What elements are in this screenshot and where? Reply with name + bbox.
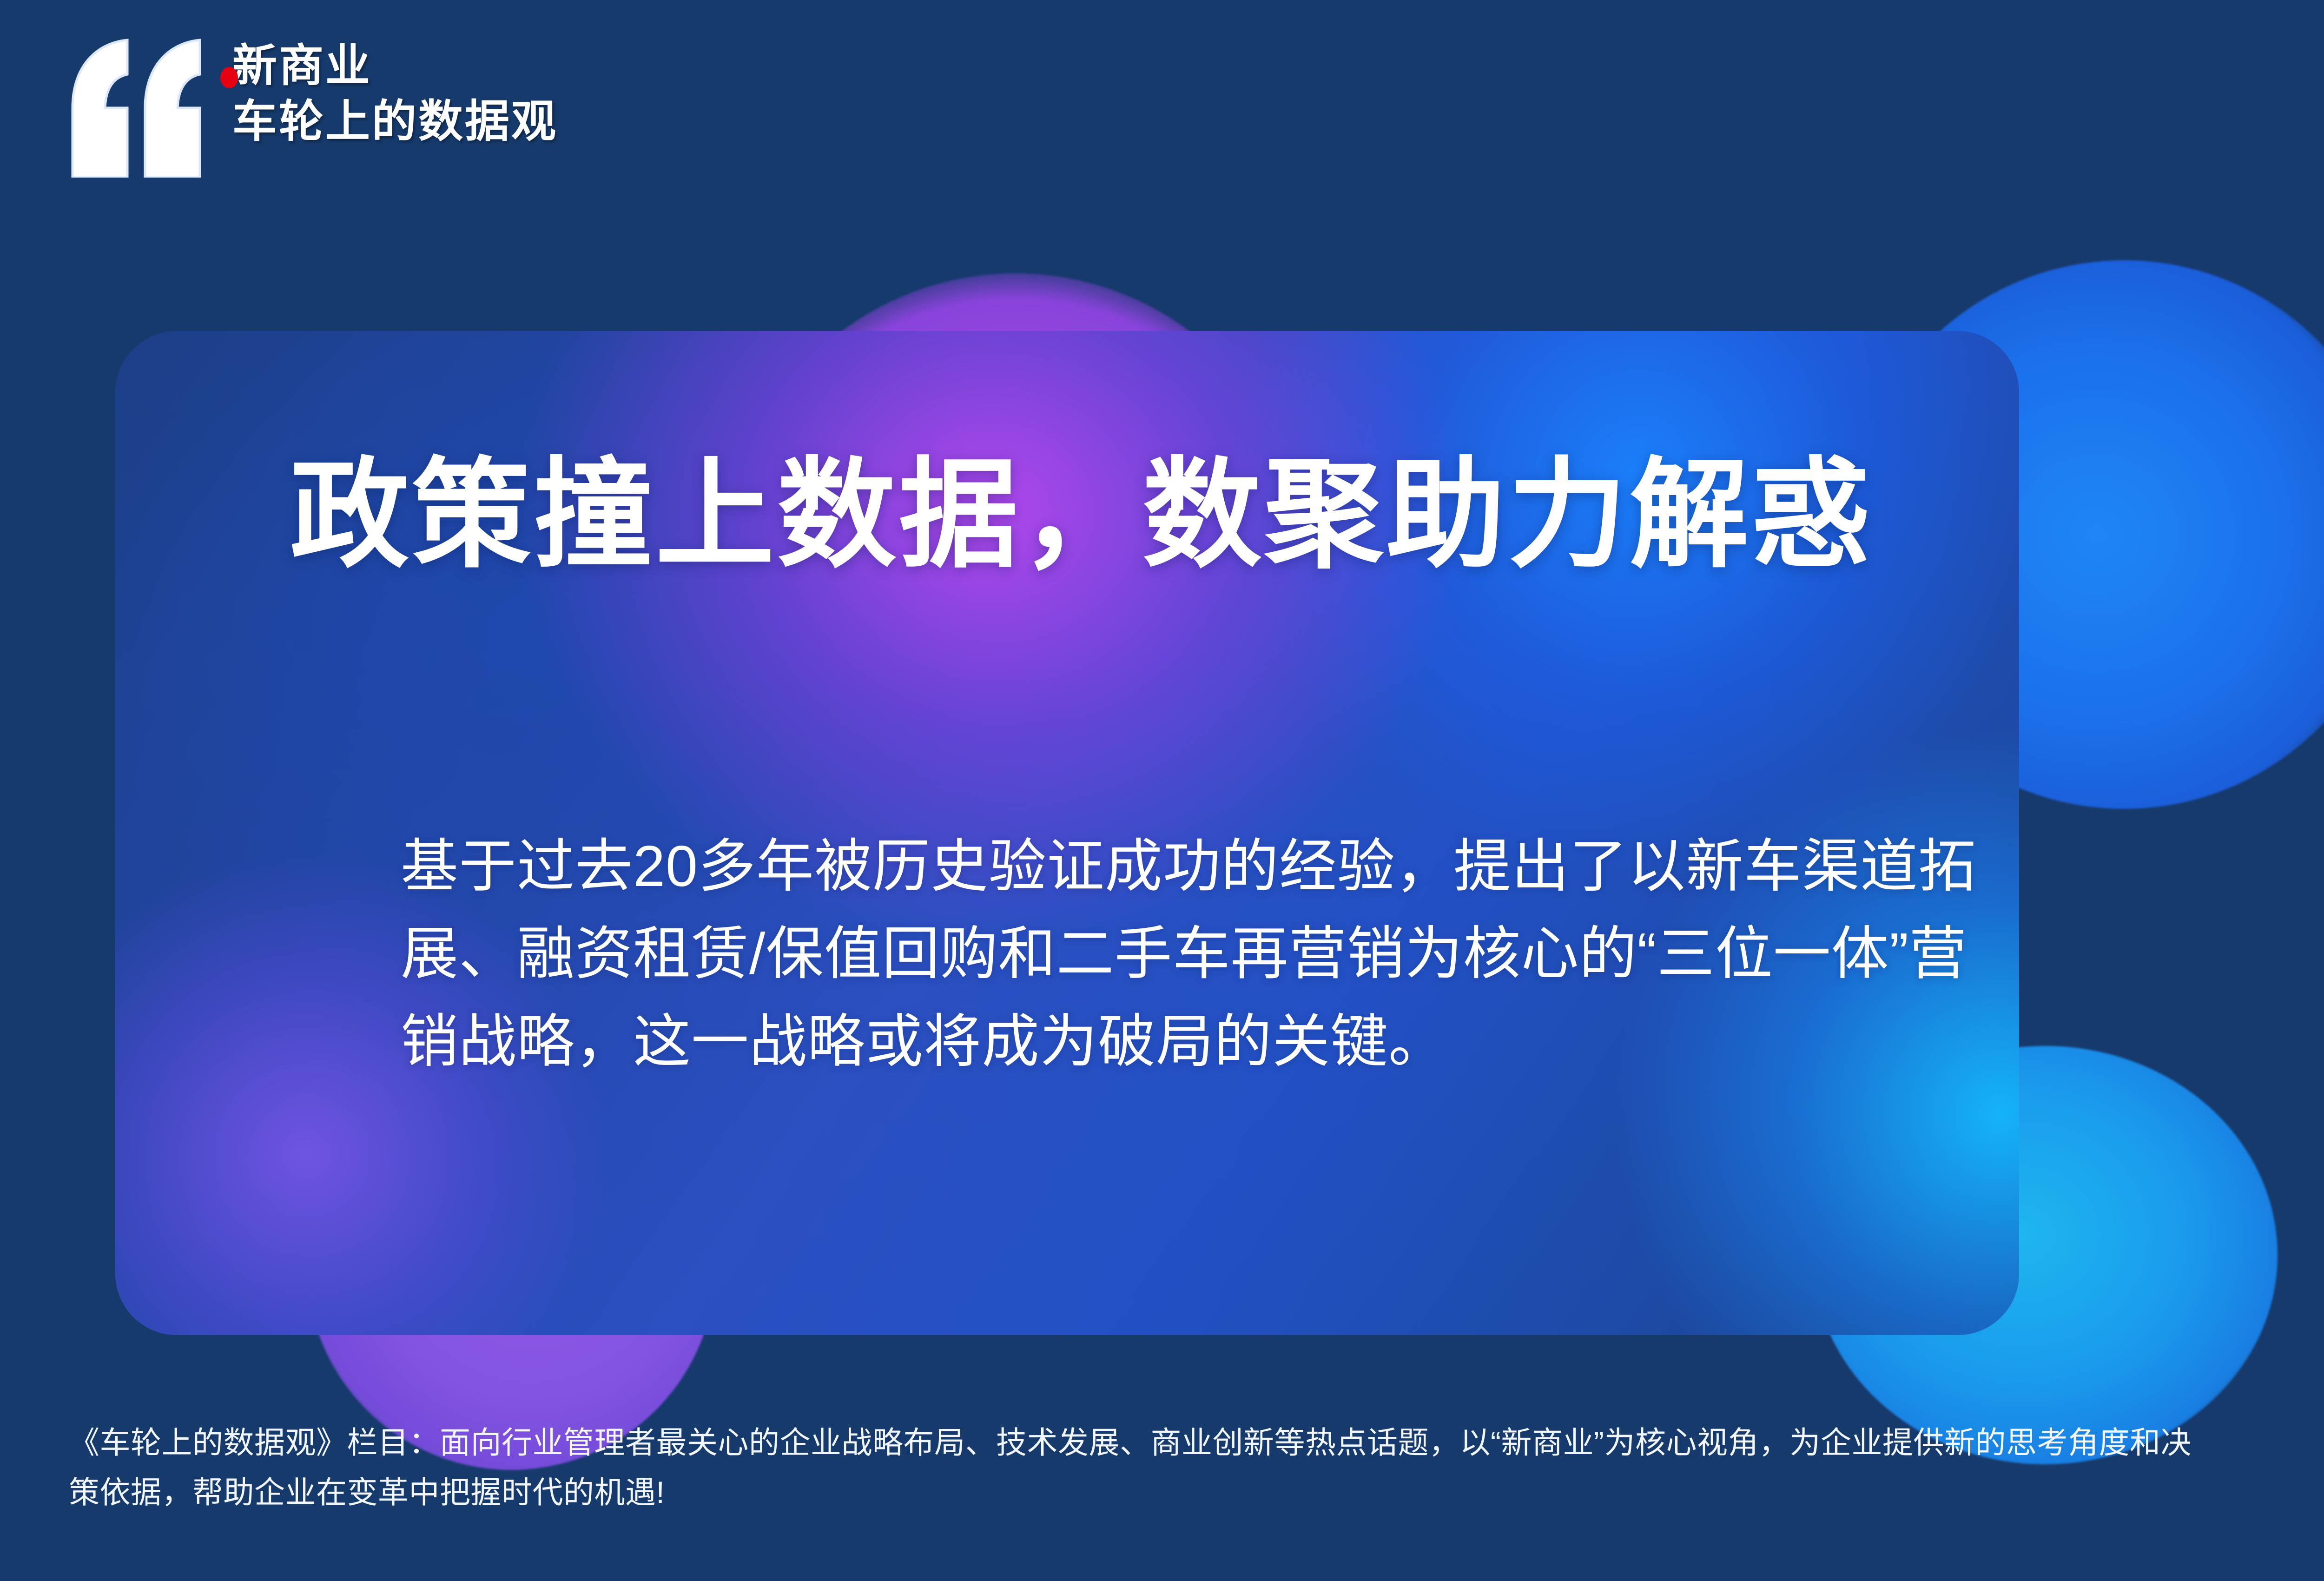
footer-line: 《车轮上的数据观》栏目：面向行业管理者最关心的企业战略布局、技术发展、商业创新等… xyxy=(69,1418,2324,1468)
page-title: 政策撞上数据，数聚助力解惑 xyxy=(290,456,1873,575)
footer-description: 《车轮上的数据观》栏目：面向行业管理者最关心的企业战略布局、技术发展、商业创新等… xyxy=(69,1418,2324,1517)
brand-name-line: 新商业 xyxy=(232,42,558,90)
brand-column: 车轮上的数据观 xyxy=(232,97,558,146)
body-line: 销战略，这一战略或将成为破局的关键。 xyxy=(401,998,2055,1085)
body-copy: 基于过去20多年被历史验证成功的经验，提出了以新车渠道拓 展、融资租赁/保值回购… xyxy=(401,823,2055,1085)
brand-text-block: 新商业 车轮上的数据观 xyxy=(232,42,558,146)
body-line: 展、融资租赁/保值回购和二手车再营销为核心的“三位一体”营 xyxy=(401,910,2055,998)
body-line: 基于过去20多年被历史验证成功的经验，提出了以新车渠道拓 xyxy=(401,823,2055,910)
footer-line: 策依据，帮助企业在变革中把握时代的机遇! xyxy=(69,1468,2324,1517)
brand-header: 新商业 车轮上的数据观 xyxy=(70,35,558,178)
accent-dot-icon xyxy=(220,67,238,88)
brand-column-line: 车轮上的数据观 xyxy=(232,98,558,146)
open-quote-icon xyxy=(70,38,205,178)
brand-name: 新商业 xyxy=(232,41,372,91)
